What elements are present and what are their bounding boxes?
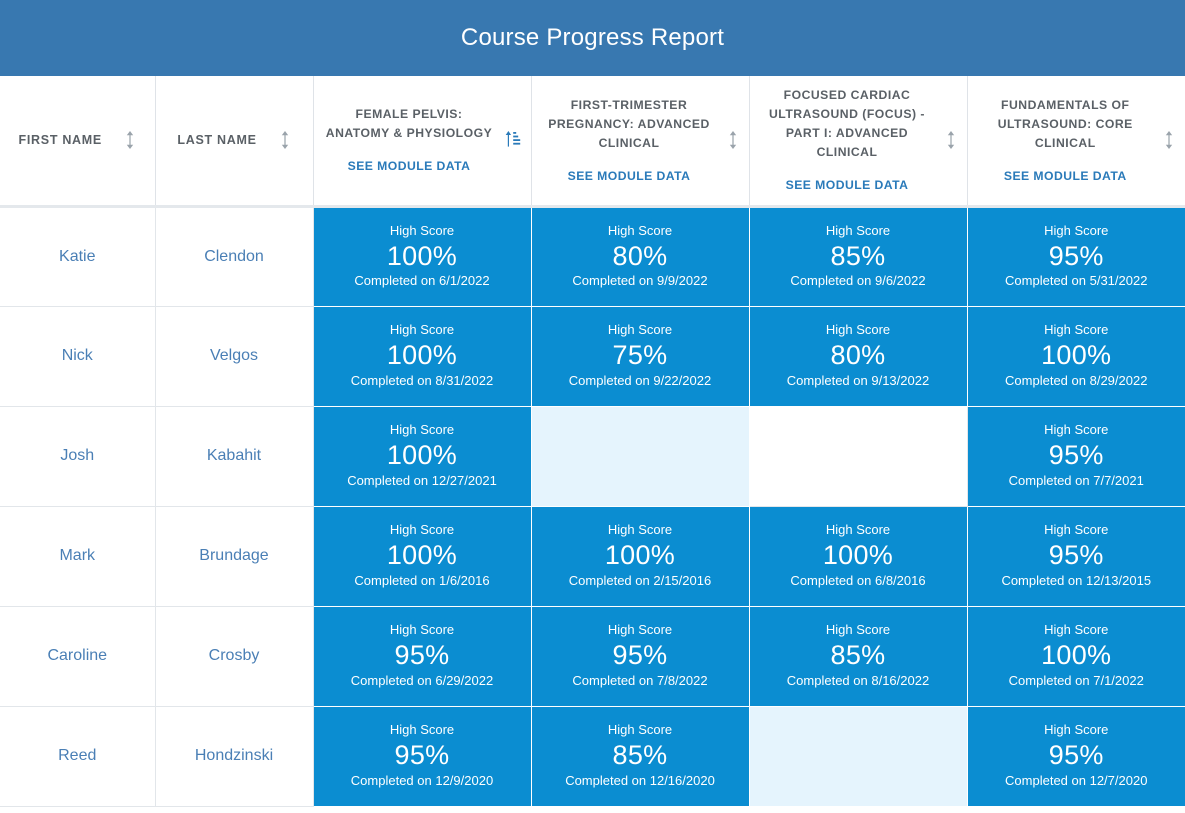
sort-updown-icon[interactable] [1163, 130, 1175, 150]
high-score-label: High Score [608, 622, 672, 639]
cell-course-score[interactable]: High Score95%Completed on 5/31/2022 [967, 206, 1185, 306]
column-header-content: LAST NAME [166, 130, 303, 150]
header-row: FIRST NAMELAST NAMEFEMALE PELVIS: ANATOM… [0, 76, 1185, 206]
score-block: High Score95%Completed on 7/7/2021 [968, 422, 1185, 490]
cell-course-score[interactable]: High Score85%Completed on 9/6/2022 [749, 206, 967, 306]
cell-course-empty-tinted[interactable] [749, 706, 967, 806]
table-body: KatieClendonHigh Score100%Completed on 6… [0, 206, 1185, 806]
score-block: High Score80%Completed on 9/9/2022 [532, 223, 749, 291]
completion-date: Completed on 8/16/2022 [787, 673, 929, 690]
score-block: High Score80%Completed on 9/13/2022 [750, 322, 967, 390]
score-block: High Score100%Completed on 7/1/2022 [968, 622, 1185, 690]
score-value: 95% [613, 640, 668, 672]
column-header-content: FIRST-TRIMESTER PREGNANCY: ADVANCED CLIN… [542, 96, 739, 185]
high-score-label: High Score [1044, 622, 1108, 639]
high-score-label: High Score [390, 722, 454, 739]
cell-course-score[interactable]: High Score100%Completed on 12/27/2021 [313, 406, 531, 506]
completion-date: Completed on 7/7/2021 [1009, 473, 1144, 490]
cell-course-score[interactable]: High Score100%Completed on 6/1/2022 [313, 206, 531, 306]
completion-date: Completed on 7/8/2022 [572, 673, 707, 690]
cell-course-score[interactable]: High Score95%Completed on 7/7/2021 [967, 406, 1185, 506]
course-title: FEMALE PELVIS: ANATOMY & PHYSIOLOGY [324, 105, 495, 143]
cell-course-score[interactable]: High Score85%Completed on 12/16/2020 [531, 706, 749, 806]
cell-course-score[interactable]: High Score95%Completed on 12/7/2020 [967, 706, 1185, 806]
table-row: CarolineCrosbyHigh Score95%Completed on … [0, 606, 1185, 706]
score-value: 80% [831, 340, 886, 372]
cell-course-score[interactable]: High Score100%Completed on 6/8/2016 [749, 506, 967, 606]
completion-date: Completed on 12/9/2020 [351, 773, 493, 790]
score-value: 95% [1049, 440, 1104, 472]
completion-date: Completed on 9/22/2022 [569, 373, 711, 390]
score-block: High Score85%Completed on 9/6/2022 [750, 223, 967, 291]
column-header-text-block: FIRST-TRIMESTER PREGNANCY: ADVANCED CLIN… [542, 96, 717, 185]
score-value: 100% [1041, 340, 1111, 372]
sort-updown-icon[interactable] [945, 130, 957, 150]
table-row: NickVelgosHigh Score100%Completed on 8/3… [0, 306, 1185, 406]
high-score-label: High Score [390, 223, 454, 240]
column-header-content: FUNDAMENTALS OF ULTRASOUND: CORE CLINICA… [978, 96, 1176, 185]
score-value: 95% [395, 640, 450, 672]
score-value: 100% [387, 340, 457, 372]
column-header-content: FIRST NAME [10, 130, 145, 150]
column-header-content: FEMALE PELVIS: ANATOMY & PHYSIOLOGYSEE M… [324, 105, 521, 175]
course-title: FIRST-TRIMESTER PREGNANCY: ADVANCED CLIN… [542, 96, 717, 153]
score-block: High Score100%Completed on 2/15/2016 [532, 522, 749, 590]
high-score-label: High Score [1044, 322, 1108, 339]
score-value: 95% [1049, 241, 1104, 273]
cell-course-empty[interactable] [749, 406, 967, 506]
high-score-label: High Score [826, 522, 890, 539]
score-value: 75% [613, 340, 668, 372]
cell-last-name: Brundage [155, 506, 313, 606]
cell-last-name: Kabahit [155, 406, 313, 506]
score-block: High Score100%Completed on 6/8/2016 [750, 522, 967, 590]
cell-first-name: Nick [0, 306, 155, 406]
completion-date: Completed on 6/29/2022 [351, 673, 493, 690]
column-header-course-1[interactable]: FEMALE PELVIS: ANATOMY & PHYSIOLOGYSEE M… [313, 76, 531, 206]
score-block: High Score85%Completed on 12/16/2020 [532, 722, 749, 790]
high-score-label: High Score [1044, 522, 1108, 539]
high-score-label: High Score [390, 422, 454, 439]
high-score-label: High Score [826, 622, 890, 639]
table-row: KatieClendonHigh Score100%Completed on 6… [0, 206, 1185, 306]
progress-table: FIRST NAMELAST NAMEFEMALE PELVIS: ANATOM… [0, 76, 1185, 807]
cell-course-score[interactable]: High Score95%Completed on 12/9/2020 [313, 706, 531, 806]
cell-last-name: Clendon [155, 206, 313, 306]
score-block: High Score85%Completed on 8/16/2022 [750, 622, 967, 690]
high-score-label: High Score [826, 322, 890, 339]
score-value: 100% [387, 440, 457, 472]
score-value: 100% [1041, 640, 1111, 672]
column-header-course-3[interactable]: FOCUSED CARDIAC ULTRASOUND (FOCUS) - PAR… [749, 76, 967, 206]
score-value: 85% [613, 740, 668, 772]
score-value: 100% [605, 540, 675, 572]
score-block: High Score100%Completed on 8/29/2022 [968, 322, 1185, 390]
completion-date: Completed on 6/8/2016 [790, 573, 925, 590]
completion-date: Completed on 12/13/2015 [1001, 573, 1151, 590]
cell-first-name: Caroline [0, 606, 155, 706]
cell-course-score[interactable]: High Score100%Completed on 8/29/2022 [967, 306, 1185, 406]
table-row: MarkBrundageHigh Score100%Completed on 1… [0, 506, 1185, 606]
high-score-label: High Score [608, 522, 672, 539]
high-score-label: High Score [390, 322, 454, 339]
sort-updown-icon[interactable] [124, 130, 136, 150]
completion-date: Completed on 8/31/2022 [351, 373, 493, 390]
column-header-content: FOCUSED CARDIAC ULTRASOUND (FOCUS) - PAR… [760, 86, 957, 194]
cell-course-score[interactable]: High Score75%Completed on 9/22/2022 [531, 306, 749, 406]
cell-course-score[interactable]: High Score85%Completed on 8/16/2022 [749, 606, 967, 706]
see-module-data-link[interactable]: SEE MODULE DATA [786, 178, 909, 192]
score-block: High Score95%Completed on 12/7/2020 [968, 722, 1185, 790]
score-value: 85% [831, 241, 886, 273]
column-header-course-2[interactable]: FIRST-TRIMESTER PREGNANCY: ADVANCED CLIN… [531, 76, 749, 206]
page-title: Course Progress Report [461, 24, 724, 52]
score-block: High Score95%Completed on 5/31/2022 [968, 223, 1185, 291]
see-module-data-link[interactable]: SEE MODULE DATA [568, 169, 691, 183]
cell-first-name: Josh [0, 406, 155, 506]
sort-updown-icon[interactable] [279, 130, 291, 150]
completion-date: Completed on 8/29/2022 [1005, 373, 1147, 390]
table-header: FIRST NAMELAST NAMEFEMALE PELVIS: ANATOM… [0, 76, 1185, 206]
high-score-label: High Score [608, 322, 672, 339]
high-score-label: High Score [390, 622, 454, 639]
column-header-label: LAST NAME [177, 133, 256, 147]
score-value: 85% [831, 640, 886, 672]
score-value: 100% [387, 241, 457, 273]
column-header-text-block: FEMALE PELVIS: ANATOMY & PHYSIOLOGYSEE M… [324, 105, 495, 175]
completion-date: Completed on 12/27/2021 [347, 473, 497, 490]
high-score-label: High Score [390, 522, 454, 539]
score-block: High Score95%Completed on 6/29/2022 [314, 622, 531, 690]
cell-course-score[interactable]: High Score95%Completed on 6/29/2022 [313, 606, 531, 706]
column-header-text-block: FOCUSED CARDIAC ULTRASOUND (FOCUS) - PAR… [760, 86, 935, 194]
course-title: FOCUSED CARDIAC ULTRASOUND (FOCUS) - PAR… [760, 86, 935, 162]
score-block: High Score95%Completed on 12/13/2015 [968, 522, 1185, 590]
score-block: High Score100%Completed on 1/6/2016 [314, 522, 531, 590]
completion-date: Completed on 9/13/2022 [787, 373, 929, 390]
high-score-label: High Score [826, 223, 890, 240]
high-score-label: High Score [1044, 223, 1108, 240]
score-value: 95% [395, 740, 450, 772]
cell-course-score[interactable]: High Score100%Completed on 2/15/2016 [531, 506, 749, 606]
score-value: 80% [613, 241, 668, 273]
cell-course-score[interactable]: High Score95%Completed on 12/13/2015 [967, 506, 1185, 606]
score-block: High Score100%Completed on 6/1/2022 [314, 223, 531, 291]
score-value: 95% [1049, 540, 1104, 572]
cell-course-score[interactable]: High Score80%Completed on 9/9/2022 [531, 206, 749, 306]
column-header-last-name[interactable]: LAST NAME [155, 76, 313, 206]
column-header-course-4[interactable]: FUNDAMENTALS OF ULTRASOUND: CORE CLINICA… [967, 76, 1185, 206]
completion-date: Completed on 12/7/2020 [1005, 773, 1147, 790]
high-score-label: High Score [1044, 722, 1108, 739]
cell-course-empty-tinted[interactable] [531, 406, 749, 506]
completion-date: Completed on 5/31/2022 [1005, 273, 1147, 290]
column-header-first-name[interactable]: FIRST NAME [0, 76, 155, 206]
sort-ascending-icon[interactable] [505, 130, 521, 150]
cell-course-score[interactable]: High Score80%Completed on 9/13/2022 [749, 306, 967, 406]
high-score-label: High Score [1044, 422, 1108, 439]
score-value: 100% [387, 540, 457, 572]
score-block: High Score95%Completed on 12/9/2020 [314, 722, 531, 790]
cell-course-score[interactable]: High Score100%Completed on 7/1/2022 [967, 606, 1185, 706]
sort-updown-icon[interactable] [727, 130, 739, 150]
cell-first-name: Katie [0, 206, 155, 306]
completion-date: Completed on 6/1/2022 [354, 273, 489, 290]
completion-date: Completed on 12/16/2020 [565, 773, 715, 790]
score-value: 95% [1049, 740, 1104, 772]
high-score-label: High Score [608, 223, 672, 240]
completion-date: Completed on 9/9/2022 [572, 273, 707, 290]
see-module-data-link[interactable]: SEE MODULE DATA [1004, 169, 1127, 183]
score-block: High Score100%Completed on 8/31/2022 [314, 322, 531, 390]
cell-last-name: Velgos [155, 306, 313, 406]
see-module-data-link[interactable]: SEE MODULE DATA [348, 159, 471, 173]
score-block: High Score75%Completed on 9/22/2022 [532, 322, 749, 390]
cell-last-name: Hondzinski [155, 706, 313, 806]
cell-course-score[interactable]: High Score100%Completed on 1/6/2016 [313, 506, 531, 606]
column-header-text-block: FUNDAMENTALS OF ULTRASOUND: CORE CLINICA… [978, 96, 1154, 185]
course-progress-report-page: Course Progress Report FIRST NAMELAST NA… [0, 0, 1185, 813]
score-block: High Score100%Completed on 12/27/2021 [314, 422, 531, 490]
completion-date: Completed on 9/6/2022 [790, 273, 925, 290]
score-value: 100% [823, 540, 893, 572]
completion-date: Completed on 2/15/2016 [569, 573, 711, 590]
cell-course-score[interactable]: High Score100%Completed on 8/31/2022 [313, 306, 531, 406]
page-header-bar: Course Progress Report [0, 0, 1185, 76]
cell-first-name: Reed [0, 706, 155, 806]
score-block: High Score95%Completed on 7/8/2022 [532, 622, 749, 690]
course-title: FUNDAMENTALS OF ULTRASOUND: CORE CLINICA… [978, 96, 1154, 153]
cell-last-name: Crosby [155, 606, 313, 706]
column-header-label: FIRST NAME [19, 133, 102, 147]
completion-date: Completed on 7/1/2022 [1009, 673, 1144, 690]
cell-course-score[interactable]: High Score95%Completed on 7/8/2022 [531, 606, 749, 706]
table-row: JoshKabahitHigh Score100%Completed on 12… [0, 406, 1185, 506]
high-score-label: High Score [608, 722, 672, 739]
cell-first-name: Mark [0, 506, 155, 606]
completion-date: Completed on 1/6/2016 [354, 573, 489, 590]
table-row: ReedHondzinskiHigh Score95%Completed on … [0, 706, 1185, 806]
